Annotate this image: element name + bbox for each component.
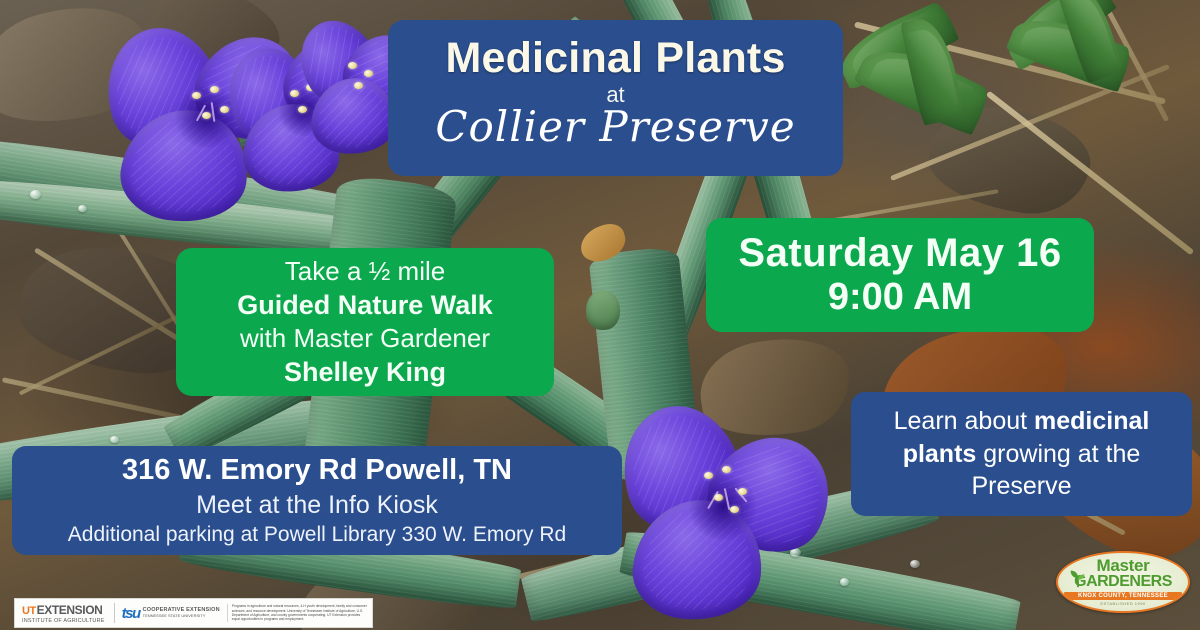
address-card: 316 W. Emory Rd Powell, TN Meet at the I… bbox=[12, 446, 622, 555]
learn-text-part1: Learn about bbox=[894, 407, 1034, 435]
sponsor-logo-strip: UT EXTENSION INSTITUTE OF AGRICULTURE ts… bbox=[14, 598, 373, 628]
ut-extension-subtitle: INSTITUTE OF AGRICULTURE bbox=[22, 618, 105, 624]
anther bbox=[364, 70, 373, 77]
water-droplet bbox=[110, 436, 119, 443]
date-time-card: Saturday May 16 9:00 AM bbox=[706, 218, 1094, 332]
anther bbox=[738, 488, 747, 495]
flower-stamens bbox=[344, 56, 394, 100]
ut-extension-name: EXTENSION bbox=[37, 603, 103, 617]
master-gardeners-logo: Master GARDENERS KNOX COUNTY, TENNESSEE … bbox=[1056, 551, 1190, 613]
anther bbox=[210, 86, 219, 93]
title-card: Medicinal Plants at Collier Preserve bbox=[388, 20, 843, 176]
anther bbox=[704, 472, 713, 479]
walk-leader-name: Shelley King bbox=[284, 355, 446, 389]
tsu-text-block: COOPERATIVE EXTENSION TENNESSEE STATE UN… bbox=[143, 608, 220, 619]
flower-stamens bbox=[696, 466, 772, 528]
anther bbox=[348, 62, 357, 69]
parking-info: Additional parking at Powell Library 330… bbox=[68, 521, 566, 548]
event-date: Saturday May 16 bbox=[738, 230, 1061, 276]
tsu-extension-logo: tsu COOPERATIVE EXTENSION TENNESSEE STAT… bbox=[120, 606, 222, 621]
water-droplet bbox=[910, 560, 920, 568]
walk-title: Guided Nature Walk bbox=[237, 288, 493, 322]
learn-text-part2: growing at the Preserve bbox=[971, 440, 1140, 501]
poster-title: Medicinal Plants bbox=[445, 36, 785, 81]
logo-divider bbox=[114, 603, 115, 623]
event-address: 316 W. Emory Rd Powell, TN bbox=[122, 452, 512, 488]
sprout-icon bbox=[1067, 567, 1089, 589]
walk-leader-label: with Master Gardener bbox=[240, 322, 490, 355]
walk-distance: Take a ½ mile bbox=[285, 255, 445, 288]
anther bbox=[722, 466, 731, 473]
ut-extension-logo: UT EXTENSION INSTITUTE OF AGRICULTURE bbox=[18, 603, 109, 624]
filament bbox=[724, 488, 731, 510]
mg-county-banner: KNOX COUNTY, TENNESSEE bbox=[1064, 592, 1182, 600]
anther bbox=[354, 82, 363, 89]
anther bbox=[202, 112, 211, 119]
water-droplet bbox=[78, 205, 87, 212]
event-time: 9:00 AM bbox=[828, 276, 972, 320]
anther bbox=[290, 90, 299, 97]
event-poster: Medicinal Plants at Collier Preserve Tak… bbox=[0, 0, 1200, 630]
ut-extension-wordmark: UT EXTENSION bbox=[22, 603, 105, 617]
ut-prefix: UT bbox=[22, 605, 36, 617]
learn-about-text: Learn about medicinal plants growing at … bbox=[863, 405, 1180, 503]
learn-about-card: Learn about medicinal plants growing at … bbox=[851, 392, 1192, 516]
mg-established: ESTABLISHED 1990 bbox=[1100, 601, 1145, 606]
water-droplet bbox=[30, 190, 41, 199]
mg-word-master: Master bbox=[1096, 558, 1149, 574]
program-disclaimer: Programs in agriculture and natural reso… bbox=[227, 604, 369, 622]
anther bbox=[192, 92, 201, 99]
meeting-point: Meet at the Info Kiosk bbox=[196, 489, 438, 522]
filament bbox=[211, 102, 216, 122]
anther bbox=[714, 494, 723, 501]
venue-name: Collier Preserve bbox=[435, 105, 795, 149]
spiderwort-flower bbox=[608, 404, 848, 624]
tsu-wordmark: tsu bbox=[122, 606, 140, 621]
nature-walk-card: Take a ½ mile Guided Nature Walk with Ma… bbox=[176, 248, 554, 396]
tsu-line2: TENNESSEE STATE UNIVERSITY bbox=[143, 614, 220, 618]
flower-bud bbox=[586, 290, 620, 330]
anther bbox=[730, 506, 739, 513]
